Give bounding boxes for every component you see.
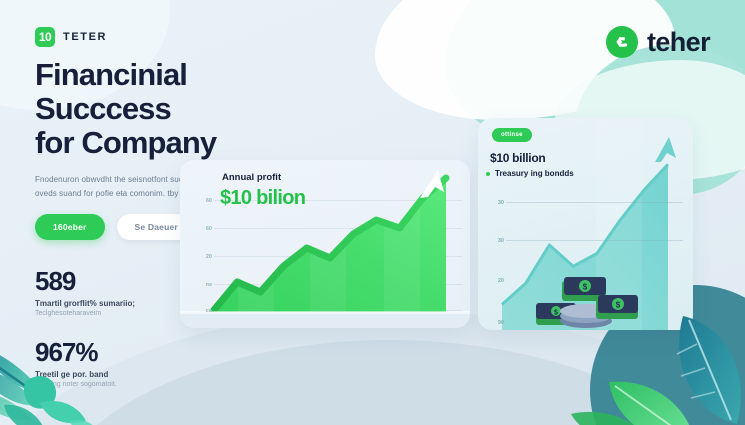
logo[interactable]: teher	[606, 26, 710, 58]
chart-title: Annual profit	[222, 172, 281, 183]
badge-number: 10	[35, 27, 55, 47]
treasury-bonds-chart-card[interactable]: 30 30 20 90 $ $	[478, 118, 693, 330]
gridline	[506, 202, 683, 203]
page-title: Financinial Succcess for Company	[35, 58, 320, 159]
annual-profit-area-plot	[180, 160, 470, 328]
y-axis-tick: 20	[206, 254, 212, 260]
right-chart-value: $10 billion	[490, 151, 545, 165]
y-axis: 30 30 20 90	[482, 192, 506, 317]
brand-word: TETER	[63, 31, 107, 43]
stat-description: Amstfng noter sogomatoit.	[35, 381, 320, 388]
legend-dot-icon	[486, 172, 490, 176]
stat-item: 967% Treetil ge por. band Amstfng noter …	[35, 339, 320, 388]
y-axis-tick: 60	[206, 226, 212, 232]
legend-label: Treasury ing bondds	[495, 169, 574, 178]
stat-label: Treetil ge por. band	[35, 370, 320, 379]
growth-arrow-icon	[655, 137, 676, 162]
svg-text:$: $	[583, 283, 588, 292]
y-axis-tick: 60	[206, 198, 212, 204]
money-stack-icon: $ $ $	[534, 261, 644, 330]
chart-value: $10 bilion	[220, 187, 305, 210]
primary-cta-button[interactable]: 160eber	[35, 214, 105, 240]
annual-profit-chart-card[interactable]: 60 60 20 ns co	[180, 160, 470, 328]
y-axis: 60 60 20 ns co	[190, 188, 214, 318]
y-axis-tick: 20	[498, 278, 504, 284]
y-axis-tick: 30	[498, 200, 504, 206]
brand-badge: 10 TETER	[35, 27, 107, 47]
headline-line-2: for Company	[35, 125, 216, 160]
slide-canvas: 10 TETER teher Financinial Succcess for …	[0, 0, 745, 425]
headline-line-1: Financinial Succcess	[35, 57, 187, 126]
y-axis-tick: 90	[498, 320, 504, 326]
y-axis-tick: co	[206, 308, 212, 314]
chart-legend: Treasury ing bondds	[486, 169, 574, 178]
status-badge: ottinse	[492, 128, 532, 142]
y-axis-tick: 30	[498, 238, 504, 244]
y-axis-tick: ns	[206, 282, 212, 288]
background-blob-shape	[375, 0, 675, 120]
stat-value: 967%	[35, 339, 320, 365]
svg-text:$: $	[554, 310, 558, 317]
svg-text:$: $	[616, 301, 621, 310]
logo-text: teher	[647, 27, 710, 58]
gridline	[506, 240, 683, 241]
arrow-chevron-icon	[606, 26, 638, 58]
